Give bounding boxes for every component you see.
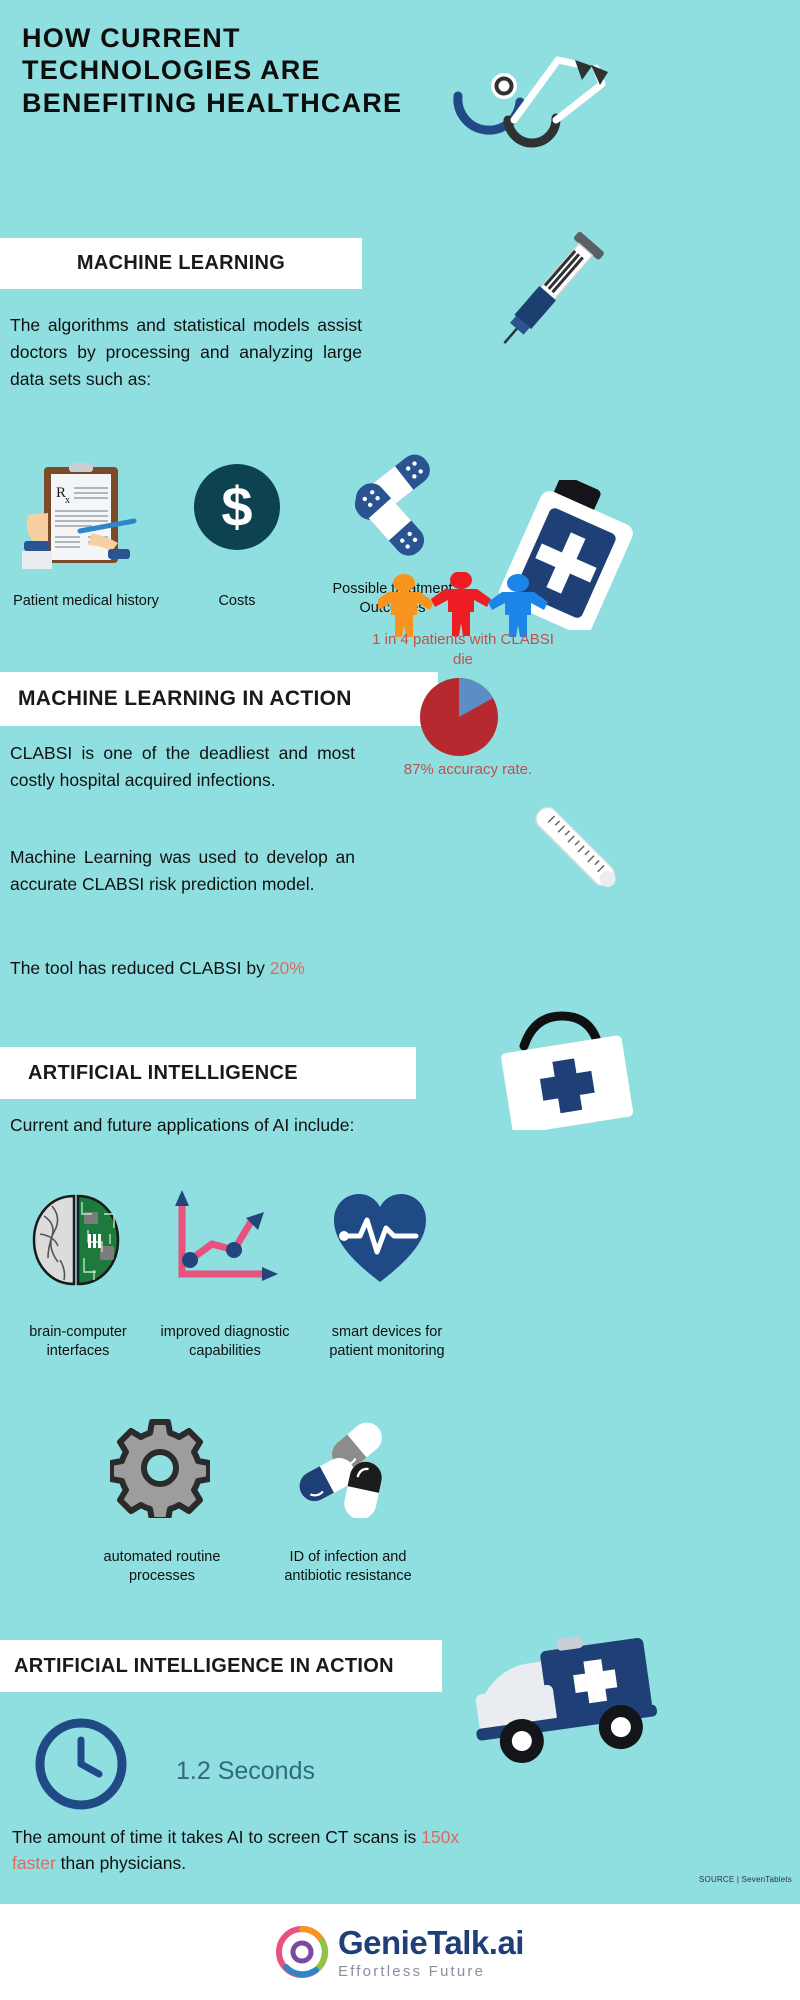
banner-machine-learning-label: MACHINE LEARNING [77, 252, 285, 275]
logo[interactable]: GenieTalk.ai Effortless Future [276, 1926, 524, 1979]
aiia-paragraph: The amount of time it takes AI to screen… [12, 1824, 482, 1877]
heart-pulse-icon [330, 1190, 430, 1286]
gear-icon [110, 1418, 210, 1518]
genietalk-swirl-icon [276, 1926, 328, 1978]
people-caption: 1 in 4 patients with CLABSI die [368, 630, 558, 670]
svg-text:x: x [65, 495, 70, 506]
ai-paragraph: Current and future applications of AI in… [10, 1112, 370, 1139]
clock-icon [35, 1718, 127, 1810]
logo-tagline: Effortless Future [338, 1964, 524, 1979]
svg-text:$: $ [221, 475, 252, 538]
infographic-page: HOW CURRENT TECHNOLOGIES ARE BENEFITING … [0, 0, 800, 2000]
ai-icon-caption-4: ID of infection and antibiotic resistanc… [268, 1548, 428, 1586]
medical-bag-icon [478, 1000, 648, 1130]
banner-machine-learning-in-action: MACHINE LEARNING IN ACTION [0, 672, 438, 726]
mlia-paragraph-2: Machine Learning was used to develop an … [10, 844, 355, 898]
page-title: HOW CURRENT TECHNOLOGIES ARE BENEFITING … [22, 22, 452, 119]
ml-icon-caption-1: Costs [182, 592, 292, 611]
thermometer-icon [498, 790, 638, 900]
banner-machine-learning: MACHINE LEARNING [0, 238, 362, 289]
banner-machine-learning-in-action-label: MACHINE LEARNING IN ACTION [18, 687, 352, 711]
stethoscope-icon [430, 38, 640, 168]
ai-icon-caption-2: smart devices for patient monitoring [312, 1323, 462, 1361]
pie-caption: 87% accuracy rate. [368, 760, 568, 780]
banner-artificial-intelligence-label: ARTIFICIAL INTELLIGENCE [28, 1062, 298, 1085]
ai-icon-caption-1: improved diagnostic capabilities [150, 1323, 300, 1361]
mlia-paragraph-3-accent: 20% [270, 958, 305, 978]
pills-capsules-icon [288, 1418, 398, 1518]
aiia-paragraph-prefix: The amount of time it takes AI to screen… [12, 1827, 421, 1847]
footer: GenieTalk.ai Effortless Future [0, 1904, 800, 2000]
banner-artificial-intelligence: ARTIFICIAL INTELLIGENCE [0, 1047, 416, 1099]
mlia-paragraph-1: CLABSI is one of the deadliest and most … [10, 740, 355, 794]
mlia-paragraph-3-prefix: The tool has reduced CLABSI by [10, 958, 270, 978]
machine-learning-paragraph: The algorithms and statistical models as… [10, 312, 362, 392]
banner-ai-in-action-label: ARTIFICIAL INTELLIGENCE IN ACTION [14, 1655, 394, 1678]
dollar-coin-icon: $ [192, 462, 282, 552]
banner-ai-in-action: ARTIFICIAL INTELLIGENCE IN ACTION [0, 1640, 442, 1692]
ml-icon-caption-0: Patient medical history [0, 592, 172, 611]
clipboard-prescription-icon: R x [22, 455, 152, 573]
bandage-icon [328, 450, 458, 560]
ai-icon-caption-0: brain-computer interfaces [8, 1323, 148, 1361]
ambulance-icon [470, 1630, 670, 1780]
source-note: SOURCE | SevenTablets [699, 1875, 792, 1884]
accuracy-pie-chart [418, 676, 500, 758]
logo-name: GenieTalk.ai [338, 1926, 524, 1959]
brain-circuit-icon [26, 1190, 126, 1290]
syringe-icon [470, 225, 640, 370]
line-chart-icon [168, 1190, 278, 1290]
mlia-paragraph-3: The tool has reduced CLABSI by 20% [10, 955, 360, 982]
aiia-paragraph-suffix: than physicians. [56, 1853, 186, 1873]
ai-stat-value: 1.2 Seconds [176, 1757, 315, 1786]
ai-icon-caption-3: automated routine processes [82, 1548, 242, 1586]
